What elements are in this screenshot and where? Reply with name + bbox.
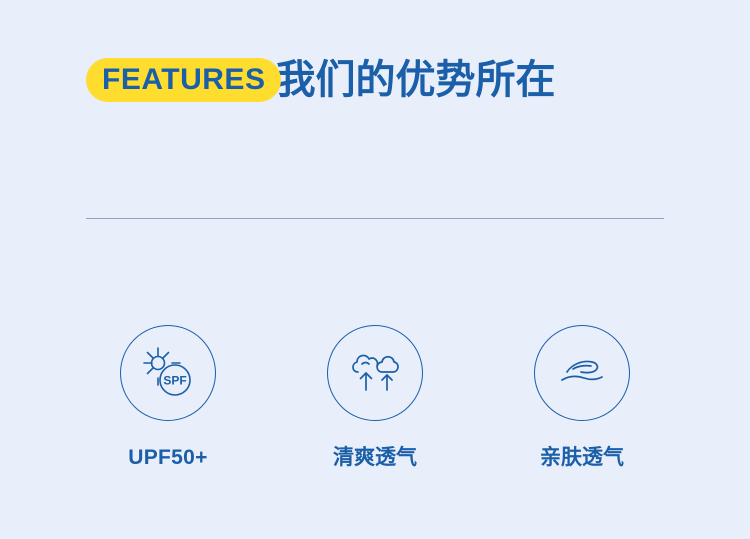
skin-friendly-hand-icon — [534, 325, 630, 421]
feature-label-upf: UPF50+ — [128, 447, 207, 468]
feature-item-upf: SPF UPF50+ — [78, 325, 258, 468]
page-header: FEATURES 我们的优势所在 — [86, 58, 555, 102]
feature-page: FEATURES 我们的优势所在 — [0, 0, 750, 539]
sun-spf-icon: SPF — [120, 325, 216, 421]
svg-text:SPF: SPF — [163, 374, 186, 388]
features-badge-label: FEATURES — [102, 65, 265, 95]
page-title: 我们的优势所在 — [275, 60, 555, 100]
section-divider — [86, 218, 664, 219]
feature-label-breathable: 清爽透气 — [333, 447, 417, 468]
feature-label-skin-friendly: 亲肤透气 — [540, 447, 624, 468]
feature-item-breathable: 清爽透气 — [285, 325, 465, 468]
breathable-cloud-arrows-icon — [327, 325, 423, 421]
feature-item-skin-friendly: 亲肤透气 — [492, 325, 672, 468]
features-badge: FEATURES — [86, 58, 281, 102]
features-row: SPF UPF50+ 清爽透气 — [0, 325, 750, 468]
